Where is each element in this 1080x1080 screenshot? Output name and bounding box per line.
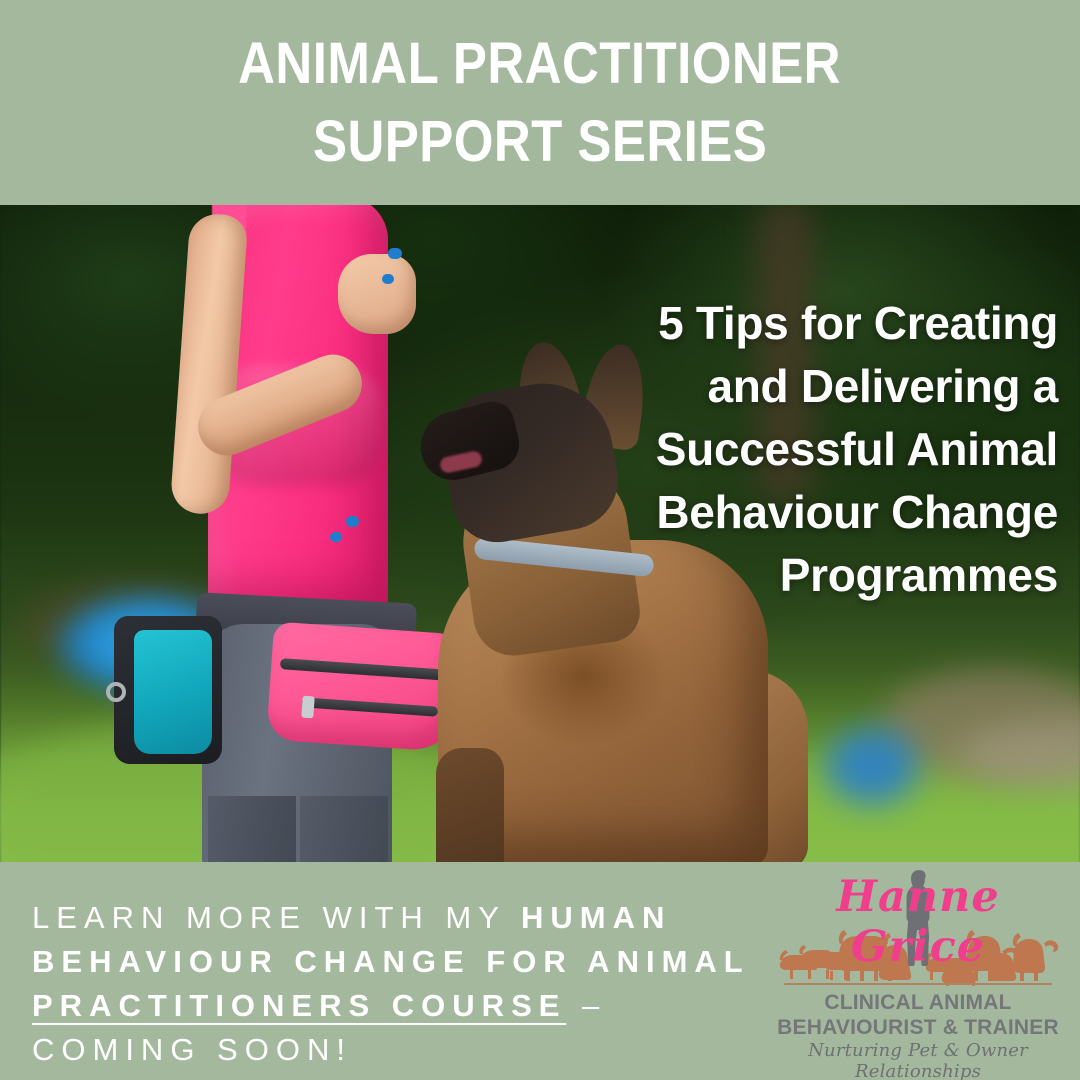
logo-business-name: CLINICAL ANIMAL BEHAVIOURIST & TRAINER (770, 990, 1066, 1040)
logo-baseline-rule (784, 983, 1052, 985)
title-line-2: and Delivering a (498, 355, 1058, 418)
header-title-line-1: ANIMAL PRACTITIONER (239, 25, 842, 103)
call-to-action-text: LEARN MORE WITH MY HUMAN BEHAVIOUR CHANG… (32, 896, 762, 1072)
blue-nail (330, 532, 342, 542)
leg-right (300, 796, 388, 868)
cta-part-1: LEARN MORE WITH MY (32, 900, 521, 935)
title-line-1: 5 Tips for Creating (498, 292, 1058, 355)
blue-nail (388, 248, 402, 259)
treat-pouch-teal (134, 630, 212, 754)
logo-tagline: Nurturing Pet & Owner Relationships (770, 1040, 1066, 1080)
hand-with-treat (338, 254, 416, 334)
dog-front-leg (436, 748, 504, 868)
title-line-5: Programmes (498, 544, 1058, 607)
leg-left (208, 796, 296, 868)
header-banner: ANIMAL PRACTITIONER SUPPORT SERIES (0, 0, 1080, 205)
bum-bag-zip-pull (301, 696, 315, 719)
logo-script-name: Hanne Grice (770, 872, 1066, 944)
footer-banner: LEARN MORE WITH MY HUMAN BEHAVIOUR CHANG… (0, 862, 1080, 1080)
header-title-line-2: SUPPORT SERIES (313, 103, 767, 181)
cta-course-link[interactable]: PRACTITIONERS COURSE (32, 988, 566, 1023)
poster-title: 5 Tips for Creating and Delivering a Suc… (498, 292, 1058, 607)
logo-name-line-2: BEHAVIOURIST & TRAINER (770, 1015, 1066, 1040)
treat-pouch-ring (106, 682, 126, 702)
social-media-poster: ANIMAL PRACTITIONER SUPPORT SERIES (0, 0, 1080, 1080)
title-line-3: Successful Animal (498, 418, 1058, 481)
blue-nail (382, 274, 394, 284)
brand-logo[interactable]: Hanne Grice (770, 870, 1066, 1074)
blue-nail (346, 516, 359, 527)
title-line-4: Behaviour Change (498, 481, 1058, 544)
logo-name-line-1: CLINICAL ANIMAL (770, 990, 1066, 1015)
